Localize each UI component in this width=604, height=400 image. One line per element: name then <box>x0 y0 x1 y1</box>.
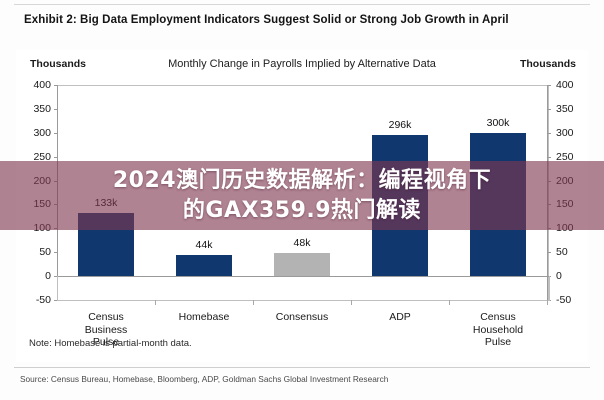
chart-source: Source: Census Bureau, Homebase, Bloombe… <box>20 374 388 384</box>
y-tick-label-right--50: -50 <box>556 295 588 306</box>
y-tick-label-left-0: 0 <box>21 271 51 282</box>
y-tick-mark-left <box>54 85 58 86</box>
x-category-line: ADP <box>354 311 446 324</box>
x-category-label-3: Consensus <box>256 311 348 324</box>
x-category-line: Census <box>60 311 152 324</box>
y-tick-mark-left <box>54 157 58 158</box>
exhibit-title: Exhibit 2: Big Data Employment Indicator… <box>24 14 580 26</box>
x-category-line: Homebase <box>158 311 250 324</box>
y-tick-mark-left <box>54 109 58 110</box>
bar-3 <box>274 253 330 276</box>
y-tick-mark-right <box>547 133 551 134</box>
y-tick-mark-right <box>547 85 551 86</box>
y-tick-label-right-400: 400 <box>556 80 588 91</box>
x-tick-mark <box>155 300 156 305</box>
bottom-divider <box>14 367 590 368</box>
chart-title: Monthly Change in Payrolls Implied by Al… <box>16 58 588 70</box>
x-category-label-2: Homebase <box>158 311 250 324</box>
bar-value-label-5: 300k <box>458 117 538 129</box>
x-tick-mark <box>547 300 548 305</box>
y-tick-mark-left <box>54 133 58 134</box>
y-tick-mark-right <box>547 157 551 158</box>
y-tick-label-left-50: 50 <box>21 247 51 258</box>
y-tick-label-left--50: -50 <box>21 295 51 306</box>
y-tick-label-right-300: 300 <box>556 128 588 139</box>
y-tick-label-left-400: 400 <box>21 80 51 91</box>
x-category-line: Business <box>60 324 152 337</box>
overlay-text-line-1: 2024澳门历史数据解析：编程视角下 <box>113 166 491 196</box>
x-category-line: Census <box>452 311 544 324</box>
y-tick-label-right-50: 50 <box>556 247 588 258</box>
x-tick-mark <box>351 300 352 305</box>
bar-2 <box>176 255 232 276</box>
bar-value-label-3: 48k <box>262 237 342 249</box>
overlay-text-line-2: 的GAX359.9热门解读 <box>183 196 421 226</box>
bar-value-label-4: 296k <box>360 119 440 131</box>
x-category-label-4: ADP <box>354 311 446 324</box>
x-tick-mark <box>449 300 450 305</box>
x-category-label-5: CensusHouseholdPulse <box>452 311 544 349</box>
axis-baseline-box <box>57 276 550 301</box>
y-tick-label-left-300: 300 <box>21 128 51 139</box>
y-tick-mark-right <box>547 109 551 110</box>
top-divider <box>14 4 590 5</box>
y-tick-mark-right <box>547 252 551 253</box>
y-tick-label-right-350: 350 <box>556 104 588 115</box>
y-tick-mark-left <box>54 252 58 253</box>
watermark-overlay-band: 2024澳门历史数据解析：编程视角下 的GAX359.9热门解读 <box>0 161 604 230</box>
y-tick-label-left-350: 350 <box>21 104 51 115</box>
screenshot-page: Exhibit 2: Big Data Employment Indicator… <box>0 0 604 400</box>
y-tick-label-right-0: 0 <box>556 271 588 282</box>
x-category-line: Household <box>452 324 544 337</box>
x-category-line: Pulse <box>452 336 544 349</box>
bar-value-label-2: 44k <box>164 239 244 251</box>
x-tick-mark <box>253 300 254 305</box>
chart-note: Note: Homebase is partial-month data. <box>29 338 192 349</box>
x-category-line: Consensus <box>256 311 348 324</box>
